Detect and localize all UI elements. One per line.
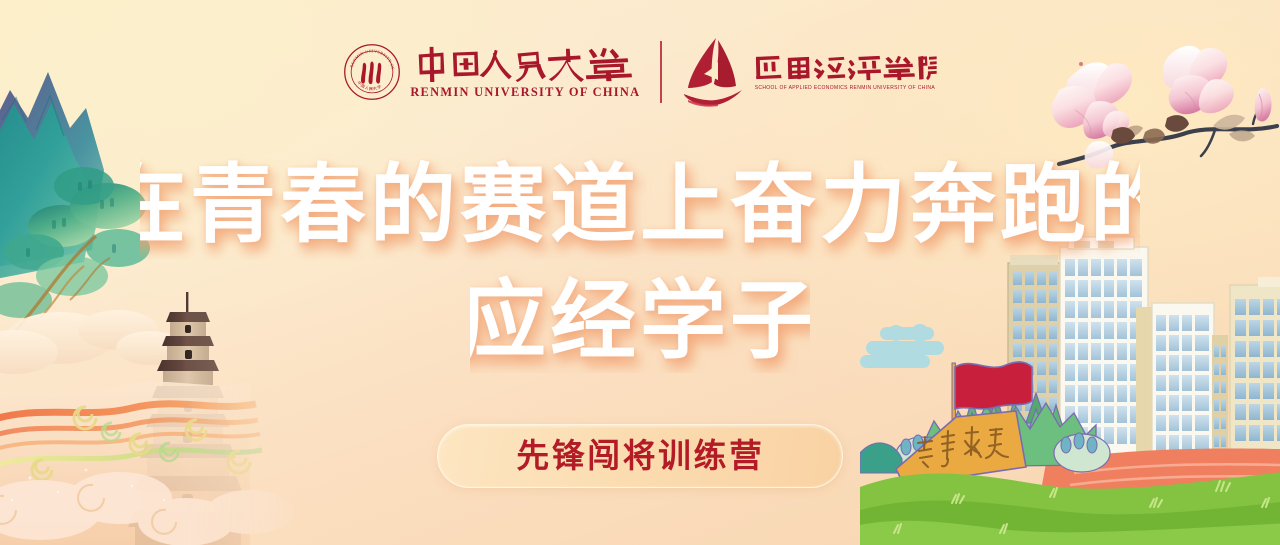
logo-lockup: RENMIN UNIVERSITY OF CHINA 中国人民大学 1937	[0, 36, 1280, 108]
ruc-name-cn	[413, 45, 637, 83]
headline-line-1-text: 在青春的赛道上奋力奔跑的	[140, 157, 1140, 253]
seal-ring-en-text: RENMIN UNIVERSITY OF CHINA	[343, 43, 396, 72]
logo-divider	[660, 41, 662, 103]
badge-label-text: 先锋闯将训练营	[516, 438, 764, 475]
saes-name-cn	[753, 53, 937, 82]
headline-line-1: 在青春的赛道上奋力奔跑的	[140, 150, 1140, 260]
subtitle-badge[interactable]: 先锋闯将训练营	[437, 424, 843, 488]
saes-name-en: SCHOOL OF APPLIED ECONOMICS RENMIN UNIVE…	[755, 85, 935, 91]
saes-logo-block: SCHOOL OF APPLIED ECONOMICS RENMIN UNIVE…	[682, 36, 937, 108]
ruc-name-en: RENMIN UNIVERSITY OF CHINA	[410, 85, 640, 100]
ruc-logo-block: RENMIN UNIVERSITY OF CHINA 中国人民大学 1937	[343, 43, 640, 101]
ruc-seal-icon: RENMIN UNIVERSITY OF CHINA 中国人民大学 1937	[343, 43, 401, 101]
headline-line-2-text: 应经学子	[470, 273, 810, 369]
sail-logo-icon	[682, 36, 746, 108]
saes-wordmark: SCHOOL OF APPLIED ECONOMICS RENMIN UNIVE…	[753, 53, 937, 91]
ruc-wordmark: RENMIN UNIVERSITY OF CHINA	[410, 45, 640, 100]
seal-year-text: 1937	[369, 86, 376, 90]
headline-block: 在青春的赛道上奋力奔跑的 应经学子	[0, 150, 1280, 373]
headline-line-2: 应经学子	[470, 268, 810, 373]
badge-label-wrap: 先锋闯将训练营	[495, 436, 786, 476]
svg-text:RENMIN UNIVERSITY OF CHINA: RENMIN UNIVERSITY OF CHINA	[343, 43, 396, 72]
banner-root: RENMIN UNIVERSITY OF CHINA 中国人民大学 1937	[0, 0, 1280, 545]
